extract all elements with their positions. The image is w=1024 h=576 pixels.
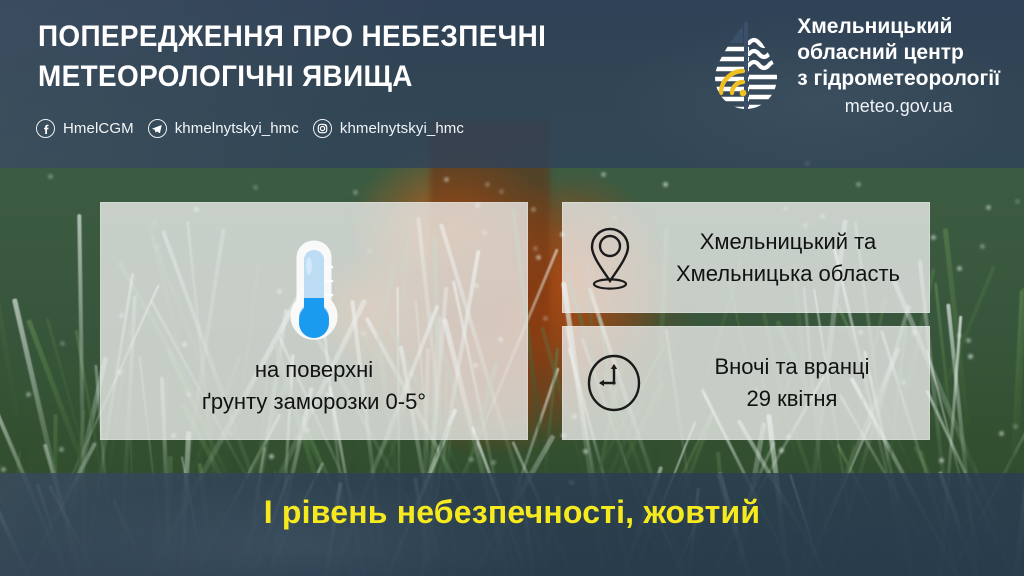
- brand-text: Хмельницький обласний центр з гідрометео…: [797, 14, 1000, 118]
- social-links: HmelCGM khmelnytskyi_hmc khmelnytskyi_hm…: [36, 119, 464, 138]
- brand-line-1: Хмельницький: [797, 14, 1000, 40]
- brand-website[interactable]: meteo.gov.ua: [797, 94, 1000, 118]
- facebook-icon: [36, 119, 55, 138]
- frost-speck: [999, 431, 1004, 436]
- time-text: Вночі та вранці 29 квітня: [664, 351, 930, 415]
- frost-speck: [48, 174, 53, 179]
- brand-line-3: з гідрометеорології: [797, 66, 1000, 92]
- social-label-telegram: khmelnytskyi_hmc: [175, 120, 299, 137]
- water-droplet-hydrometeorology-logo: [709, 19, 783, 111]
- telegram-icon: [148, 119, 167, 138]
- frost-speck: [536, 255, 541, 260]
- temperature-text: на поверхні ґрунту заморозки 0-5°: [100, 354, 528, 418]
- brand-line-2: обласний центр: [797, 40, 1000, 66]
- frost-speck: [968, 354, 973, 359]
- social-link-facebook[interactable]: HmelCGM: [36, 119, 134, 138]
- location-text: Хмельницький та Хмельницька область: [656, 226, 930, 290]
- frost-speck: [1015, 199, 1020, 204]
- time-row: Вночі та вранці 29 квітня: [562, 326, 930, 440]
- clock-icon: [586, 353, 642, 413]
- frost-speck: [533, 246, 538, 251]
- social-link-telegram[interactable]: khmelnytskyi_hmc: [148, 119, 299, 138]
- frost-speck: [253, 185, 258, 190]
- time-card: Вночі та вранці 29 квітня: [562, 326, 930, 440]
- map-pin-icon: [586, 225, 634, 291]
- danger-level-text: І рівень небезпечності, жовтий: [0, 494, 1024, 531]
- frost-speck: [601, 172, 606, 177]
- frost-speck: [856, 182, 861, 187]
- frost-speck: [531, 207, 536, 212]
- frost-speck: [543, 316, 548, 321]
- frost-speck: [980, 244, 985, 249]
- frost-speck: [269, 454, 274, 459]
- instagram-icon: [313, 119, 332, 138]
- frost-speck: [663, 182, 668, 187]
- frost-speck: [444, 177, 449, 182]
- frost-speck: [583, 449, 588, 454]
- frost-speck: [986, 205, 991, 210]
- location-card: Хмельницький та Хмельницька область: [562, 202, 930, 313]
- page-title: ПОПЕРЕДЖЕННЯ ПРО НЕБЕЗПЕЧНІ МЕТЕОРОЛОГІЧ…: [38, 17, 546, 97]
- frost-speck: [59, 447, 64, 452]
- frost-speck: [931, 235, 936, 240]
- social-link-instagram[interactable]: khmelnytskyi_hmc: [313, 119, 464, 138]
- frost-speck: [353, 190, 358, 195]
- frost-speck: [957, 266, 962, 271]
- frost-speck: [966, 338, 971, 343]
- social-label-instagram: khmelnytskyi_hmc: [340, 120, 464, 137]
- location-row: Хмельницький та Хмельницька область: [562, 202, 930, 313]
- frost-speck: [60, 341, 65, 346]
- frost-speck: [499, 189, 504, 194]
- frost-speck: [1, 467, 6, 472]
- social-label-facebook: HmelCGM: [63, 120, 134, 137]
- frost-speck: [26, 392, 31, 397]
- frost-speck: [491, 460, 496, 465]
- temperature-card: на поверхні ґрунту заморозки 0-5°: [100, 202, 528, 440]
- thermometer-icon: [282, 240, 346, 353]
- frost-speck: [779, 448, 784, 453]
- frost-speck: [485, 182, 490, 187]
- brand-block: Хмельницький обласний центр з гідрометео…: [709, 14, 1000, 118]
